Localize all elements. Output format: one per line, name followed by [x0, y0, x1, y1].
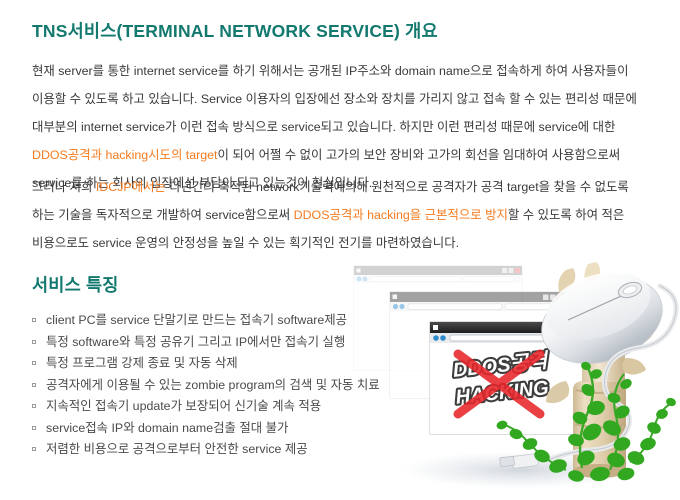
list-item: 특정 프로그램 강제 종료 및 자동 삭제: [30, 353, 450, 375]
solution-paragraph: 그러나 저희 IDCJP에서는 다년간의 축적된 network기술력에의해 원…: [32, 173, 644, 257]
square-bullet-icon: [32, 447, 36, 451]
red-cross-mark: [458, 354, 540, 414]
list-item-label: 공격자에게 이용될 수 있는 zombie program의 검색 및 자동 치…: [46, 378, 380, 392]
mouse-cable: [544, 286, 676, 462]
list-item-label: 특정 software와 특정 공유기 그리고 IP에서만 접속기 실행: [46, 335, 345, 349]
browser-window-front: [430, 322, 612, 434]
square-bullet-icon: [32, 404, 36, 408]
solution-highlight-idcjp: IDCJP에서는: [96, 180, 166, 194]
svg-text:HACKING: HACKING: [455, 377, 550, 409]
intro-highlight-ddos-target: DDOS공격과 hacking시도의 target: [32, 148, 217, 162]
page-title: TNS서비스(TERMINAL NETWORK SERVICE) 개요: [32, 18, 438, 43]
bamboo-post: [546, 262, 652, 478]
blocked-label-line1: DDOS공격: [452, 350, 551, 382]
list-item: service접속 IP와 domain name검출 절대 불가: [30, 418, 450, 440]
list-item: client PC를 service 단말기로 만드는 접속기 software…: [30, 310, 450, 332]
features-heading: 서비스 특징: [32, 272, 119, 297]
list-item: 지속적인 접속기 update가 보장되어 신기술 계속 적용: [30, 396, 450, 418]
svg-text:DDOS공격: DDOS공격: [452, 350, 551, 382]
square-bullet-icon: [32, 340, 36, 344]
list-item-label: 저렴한 비용으로 공격으로부터 안전한 service 제공: [46, 442, 308, 456]
square-bullet-icon: [32, 318, 36, 322]
square-bullet-icon: [32, 426, 36, 430]
green-vine: [496, 361, 678, 484]
intro-text-part-1: 현재 server를 통한 internet service를 하기 위해서는 …: [32, 64, 637, 134]
slide-page: TNS서비스(TERMINAL NETWORK SERVICE) 개요 현재 s…: [0, 0, 680, 500]
list-item-label: 특정 프로그램 강제 종료 및 자동 삭제: [46, 356, 238, 370]
list-item: 공격자에게 이용될 수 있는 zombie program의 검색 및 자동 치…: [30, 375, 450, 397]
square-bullet-icon: [32, 361, 36, 365]
square-bullet-icon: [32, 383, 36, 387]
usb-connector: [500, 453, 539, 468]
blocked-attack-label: DDOS공격 DDOS공격 HACKING HACKING: [452, 350, 554, 409]
blocked-label-line2: HACKING: [455, 377, 550, 409]
solution-text-part-1: 그러나 저희: [32, 180, 96, 194]
list-item-label: 지속적인 접속기 update가 보장되어 신기술 계속 적용: [46, 399, 321, 413]
computer-mouse: [500, 262, 677, 469]
list-item: 특정 software와 특정 공유기 그리고 IP에서만 접속기 실행: [30, 332, 450, 354]
solution-highlight-prevent: DDOS공격과 hacking을 근본적으로 방지: [294, 208, 508, 222]
list-item-label: service접속 IP와 domain name검출 절대 불가: [46, 421, 288, 435]
list-item: 저렴한 비용으로 공격으로부터 안전한 service 제공: [30, 439, 450, 461]
list-item-label: client PC를 service 단말기로 만드는 접속기 software…: [46, 313, 347, 327]
features-list: client PC를 service 단말기로 만드는 접속기 software…: [30, 310, 450, 461]
